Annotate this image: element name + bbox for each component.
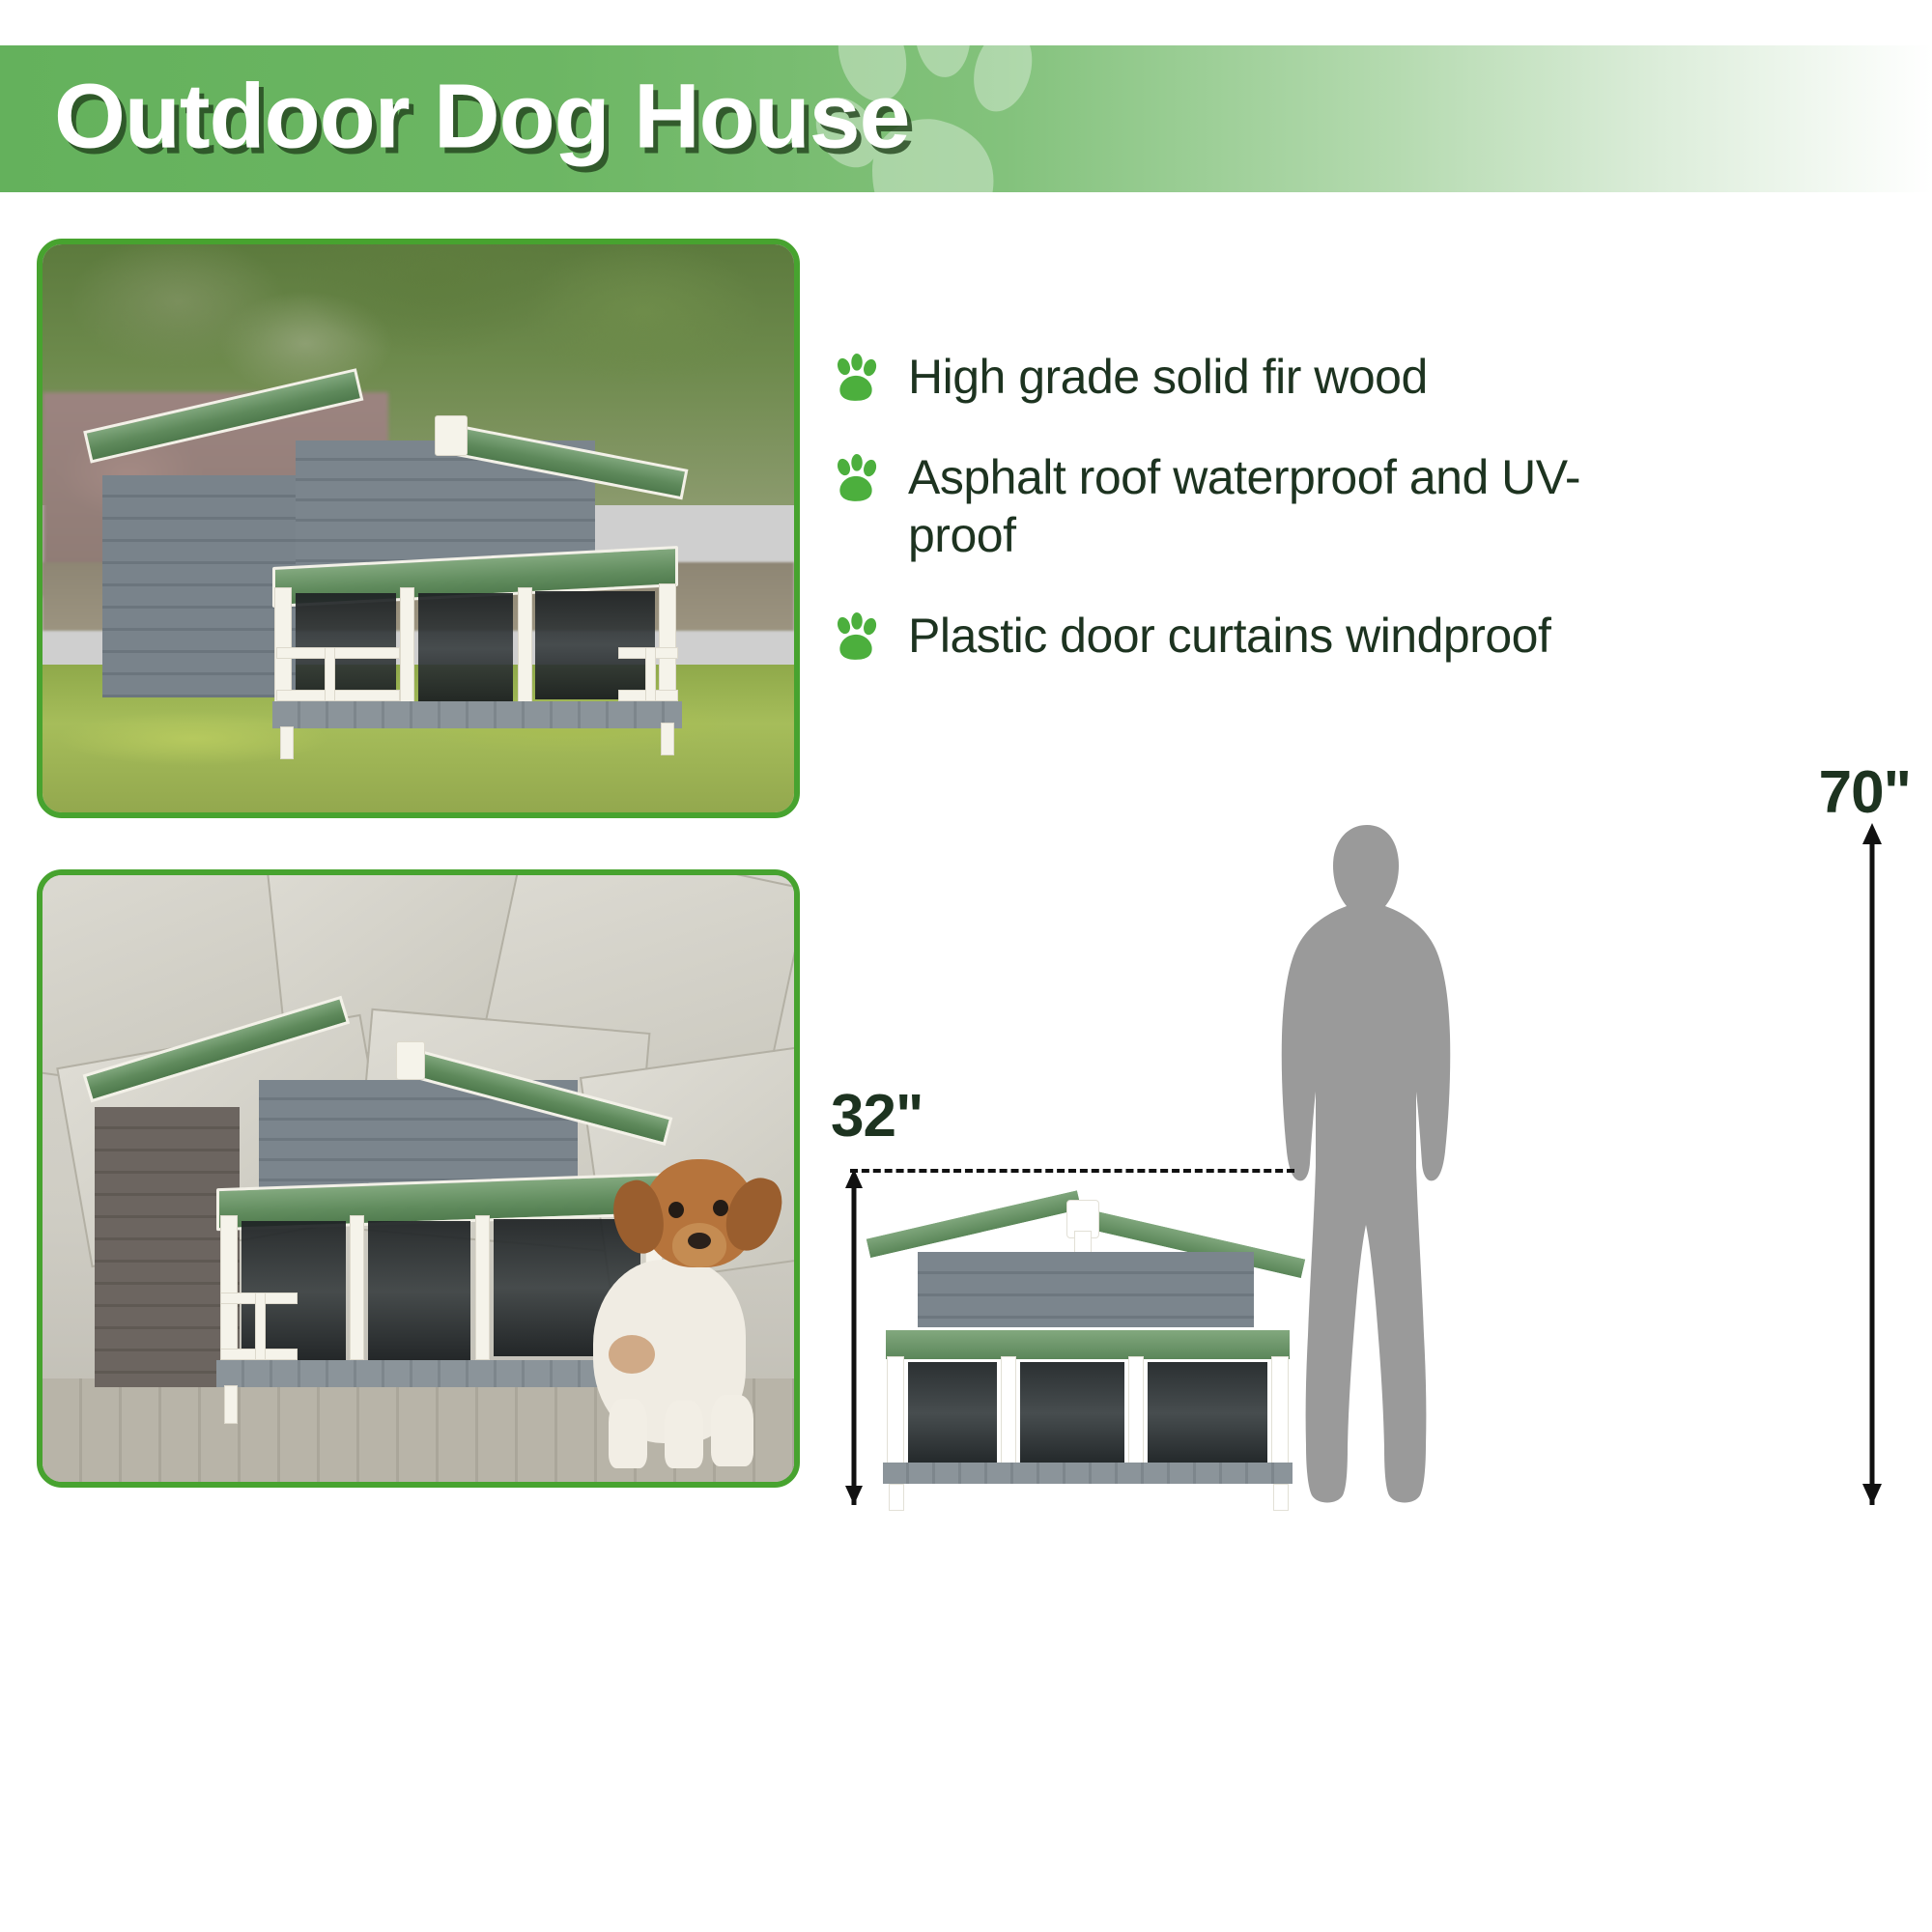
dog-photo-subject: [576, 1151, 794, 1470]
photo-dog-house-with-dog-on-patio: [37, 869, 800, 1488]
feature-label: Plastic door curtains windproof: [908, 607, 1550, 665]
feature-list: High grade solid fir wood Asphalt roof w…: [831, 348, 1913, 707]
height-reference-dashed-line: [850, 1169, 1294, 1173]
paw-print-icon: [831, 354, 881, 404]
feature-item: High grade solid fir wood: [831, 348, 1913, 406]
person-height-arrow: [1853, 823, 1891, 1505]
paw-print-icon: [831, 612, 881, 663]
paw-print-icon: [831, 454, 881, 504]
header-banner: Outdoor Dog House: [0, 45, 1932, 192]
feature-label: Asphalt roof waterproof and UV-proof: [908, 448, 1584, 564]
size-comparison-diagram: 70" 32": [831, 744, 1932, 1932]
page-title: Outdoor Dog House: [54, 64, 909, 169]
dog-house-front-view: [864, 1180, 1308, 1509]
house-height-label: 32": [831, 1082, 923, 1151]
photo-dog-house-in-garden: [37, 239, 800, 818]
feature-label: High grade solid fir wood: [908, 348, 1428, 406]
person-height-label: 70": [1819, 758, 1911, 827]
feature-item: Plastic door curtains windproof: [831, 607, 1913, 665]
feature-item: Asphalt roof waterproof and UV-proof: [831, 448, 1874, 564]
